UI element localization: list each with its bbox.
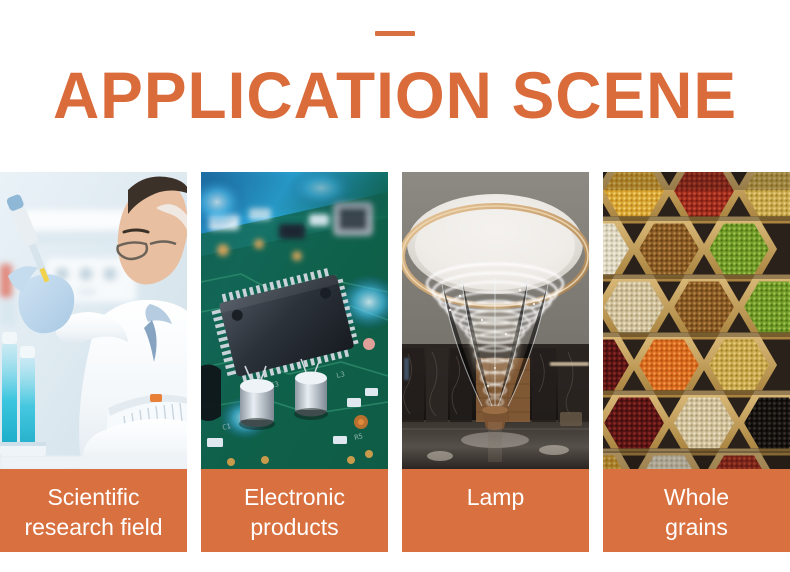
circuit-board-photo: C3 L3 R5 C1 xyxy=(201,172,388,469)
lab-scientist-photo xyxy=(0,172,187,469)
scene-card-caption: Electronic products xyxy=(201,469,388,552)
scene-card-lamp[interactable]: Lamp xyxy=(402,172,589,552)
scene-card-caption: Lamp xyxy=(402,469,589,552)
page-title: APPLICATION SCENE xyxy=(12,62,778,128)
title-divider-icon xyxy=(375,31,415,36)
scene-card-caption: Scientific research field xyxy=(0,469,187,552)
application-scene-page: APPLICATION SCENE xyxy=(0,0,790,572)
scene-card-whole-grains[interactable]: Whole grains xyxy=(603,172,790,552)
application-scene-card-row: Scientific research field xyxy=(0,172,790,552)
page-header: APPLICATION SCENE xyxy=(0,0,790,172)
grains-baskets-photo xyxy=(603,172,790,469)
scene-card-caption: Whole grains xyxy=(603,469,790,552)
scene-card-scientific-research-field[interactable]: Scientific research field xyxy=(0,172,187,552)
scene-card-electronic-products[interactable]: C3 L3 R5 C1 Electronic products xyxy=(201,172,388,552)
chandelier-photo xyxy=(402,172,589,469)
